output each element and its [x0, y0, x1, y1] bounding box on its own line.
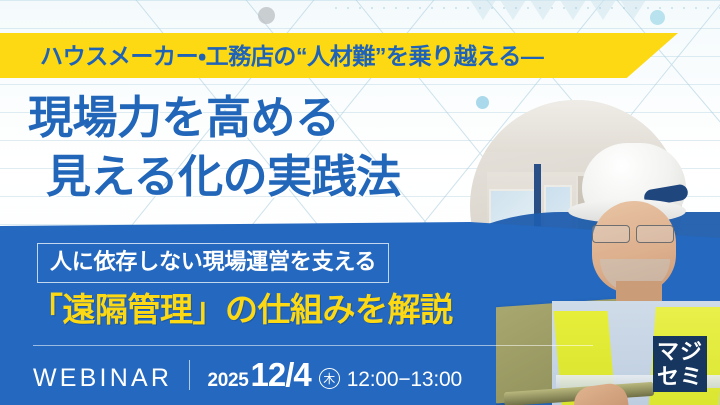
logo-line-2: セミ	[657, 364, 703, 389]
eyebrow-text: ハウスメーカー・工務店の“人材難”を乗り越える―	[40, 41, 544, 71]
footer: WEBINAR 2025 12/4 木 12:00−13:00	[33, 356, 462, 394]
event-day-of-week: 木	[319, 368, 340, 389]
headline: 現場力を高める 見える化の実践法	[28, 88, 401, 206]
event-date: 12/4	[251, 356, 311, 394]
webinar-label: WEBINAR	[33, 364, 172, 393]
headline-line-2: 見える化の実践法	[28, 147, 401, 206]
footer-separator	[189, 360, 190, 390]
logo-line-1: マジ	[657, 339, 703, 364]
footer-divider	[33, 345, 593, 346]
event-time: 12:00−13:00	[347, 368, 462, 392]
subtitle-boxed: 人に依存しない現場運営を支える	[37, 243, 389, 283]
majisemi-logo[interactable]: マジ セミ	[653, 336, 707, 392]
background-circle-grey	[258, 7, 275, 24]
emphasis-text: 「遠隔管理」の仕組みを解説	[30, 288, 453, 332]
event-year: 2025	[207, 370, 248, 392]
background-circle-cyan	[650, 10, 665, 25]
webinar-banner: ハウスメーカー・工務店の“人材難”を乗り越える― 現場力を高める 見える化の実践…	[0, 0, 720, 405]
headline-line-1: 現場力を高める	[28, 92, 340, 143]
